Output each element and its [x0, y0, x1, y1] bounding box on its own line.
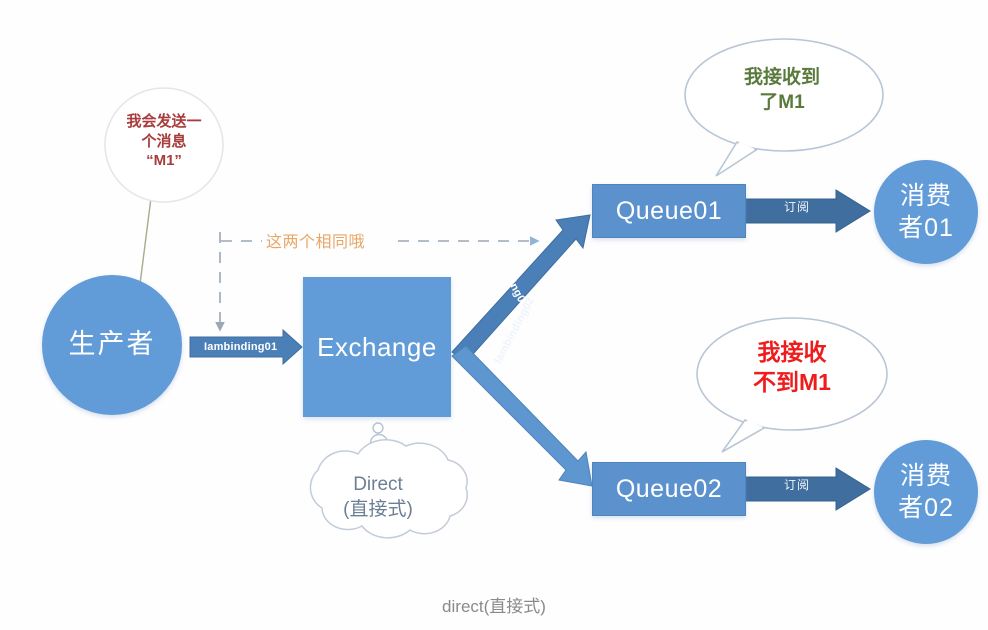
producer-bubble-tail [139, 190, 152, 292]
queue01-label: Queue01 [616, 197, 722, 226]
same-binding-note: 这两个相同哦 [266, 228, 365, 252]
consumer02-label: 消费 者02 [898, 460, 954, 525]
consumer01-node[interactable]: 消费 者01 [874, 160, 978, 264]
queue01-bubble-text: 我接收到 了M1 [712, 66, 852, 115]
queue02-label: Queue02 [616, 475, 722, 504]
direct-cloud-text: Direct (直接式) [308, 473, 448, 522]
diagram-caption: direct(直接式) [0, 592, 988, 617]
queue01-node[interactable]: Queue01 [592, 184, 746, 238]
arrow-exchange-to-queue02 [452, 346, 592, 486]
consumer01-label: 消费 者01 [898, 180, 954, 245]
consumer02-node[interactable]: 消费 者02 [874, 440, 978, 544]
producer-label: 生产者 [69, 329, 156, 361]
producer-node[interactable]: 生产者 [42, 275, 182, 415]
edge-label-queue01-to-consumer01: 订阅 [784, 198, 810, 215]
edge-label-producer-to-exchange: Iambinding01 [204, 341, 277, 353]
edge-label-queue02-to-consumer02: 订阅 [784, 476, 810, 493]
queue02-node[interactable]: Queue02 [592, 462, 746, 516]
producer-bubble-text: 我会发送一 个消息 “M1” [110, 112, 218, 171]
exchange-label: Exchange [317, 332, 437, 363]
queue02-bubble-text: 我接收 不到M1 [722, 338, 862, 398]
exchange-node[interactable]: Exchange [303, 277, 451, 417]
diagram-canvas: 生产者 Exchange Queue01 Queue02 消费 者01 消费 者… [0, 0, 988, 630]
